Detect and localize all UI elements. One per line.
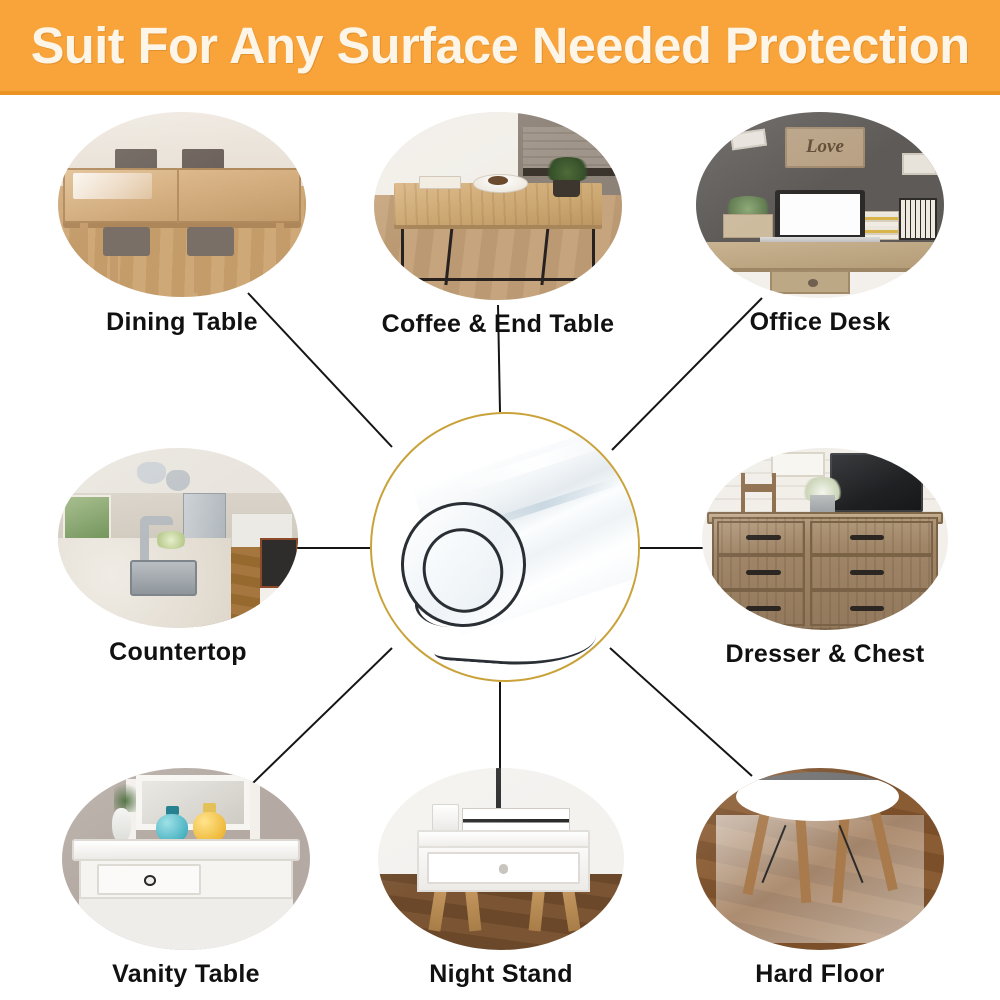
pvc-roll-illustration: [372, 414, 638, 680]
photo-cell-vanity-table[interactable]: Vanity Table: [62, 768, 310, 950]
photo-cell-night-stand[interactable]: Night Stand: [378, 768, 624, 950]
label-countertop: Countertop: [58, 638, 298, 667]
photo-vanity-table: [62, 768, 310, 950]
photo-cell-hard-floor[interactable]: Hard Floor: [696, 768, 944, 950]
center-product-circle[interactable]: [370, 412, 640, 682]
photo-cell-dining-table[interactable]: Dining Table: [58, 112, 306, 297]
label-coffee-end-table: Coffee & End Table: [374, 310, 622, 339]
dresser-sheen: [702, 448, 948, 630]
photo-coffee-end-table: [374, 112, 622, 300]
photo-countertop: [58, 448, 298, 628]
infographic-page: Suit For Any Surface Needed Protection: [0, 0, 1000, 1000]
label-vanity-table: Vanity Table: [62, 960, 310, 989]
hardfloor-sheen: [696, 768, 944, 950]
photo-cell-countertop[interactable]: Countertop: [58, 448, 298, 628]
photo-cell-office-desk[interactable]: Love Office Desk: [696, 112, 944, 298]
photo-office-desk: Love: [696, 112, 944, 298]
label-dresser-chest: Dresser & Chest: [702, 640, 948, 669]
label-night-stand: Night Stand: [378, 960, 624, 989]
office-sheen: [696, 112, 944, 298]
label-dining-table: Dining Table: [58, 308, 306, 337]
label-hard-floor: Hard Floor: [696, 960, 944, 989]
dining-sheen: [58, 112, 306, 297]
countertop-sheen: [58, 448, 298, 628]
photo-hard-floor: [696, 768, 944, 950]
photo-night-stand: [378, 768, 624, 950]
vanity-sheen: [62, 768, 310, 950]
label-office-desk: Office Desk: [696, 308, 944, 337]
nightstand-sheen: [378, 768, 624, 950]
page-title: Suit For Any Surface Needed Protection: [31, 16, 970, 75]
header-banner: Suit For Any Surface Needed Protection: [0, 0, 1000, 95]
photo-dresser-chest: [702, 448, 948, 630]
coffee-sheen: [374, 112, 622, 300]
photo-cell-coffee-end-table[interactable]: Coffee & End Table: [374, 112, 622, 300]
photo-dining-table: [58, 112, 306, 297]
photo-cell-dresser-chest[interactable]: Dresser & Chest: [702, 448, 948, 630]
